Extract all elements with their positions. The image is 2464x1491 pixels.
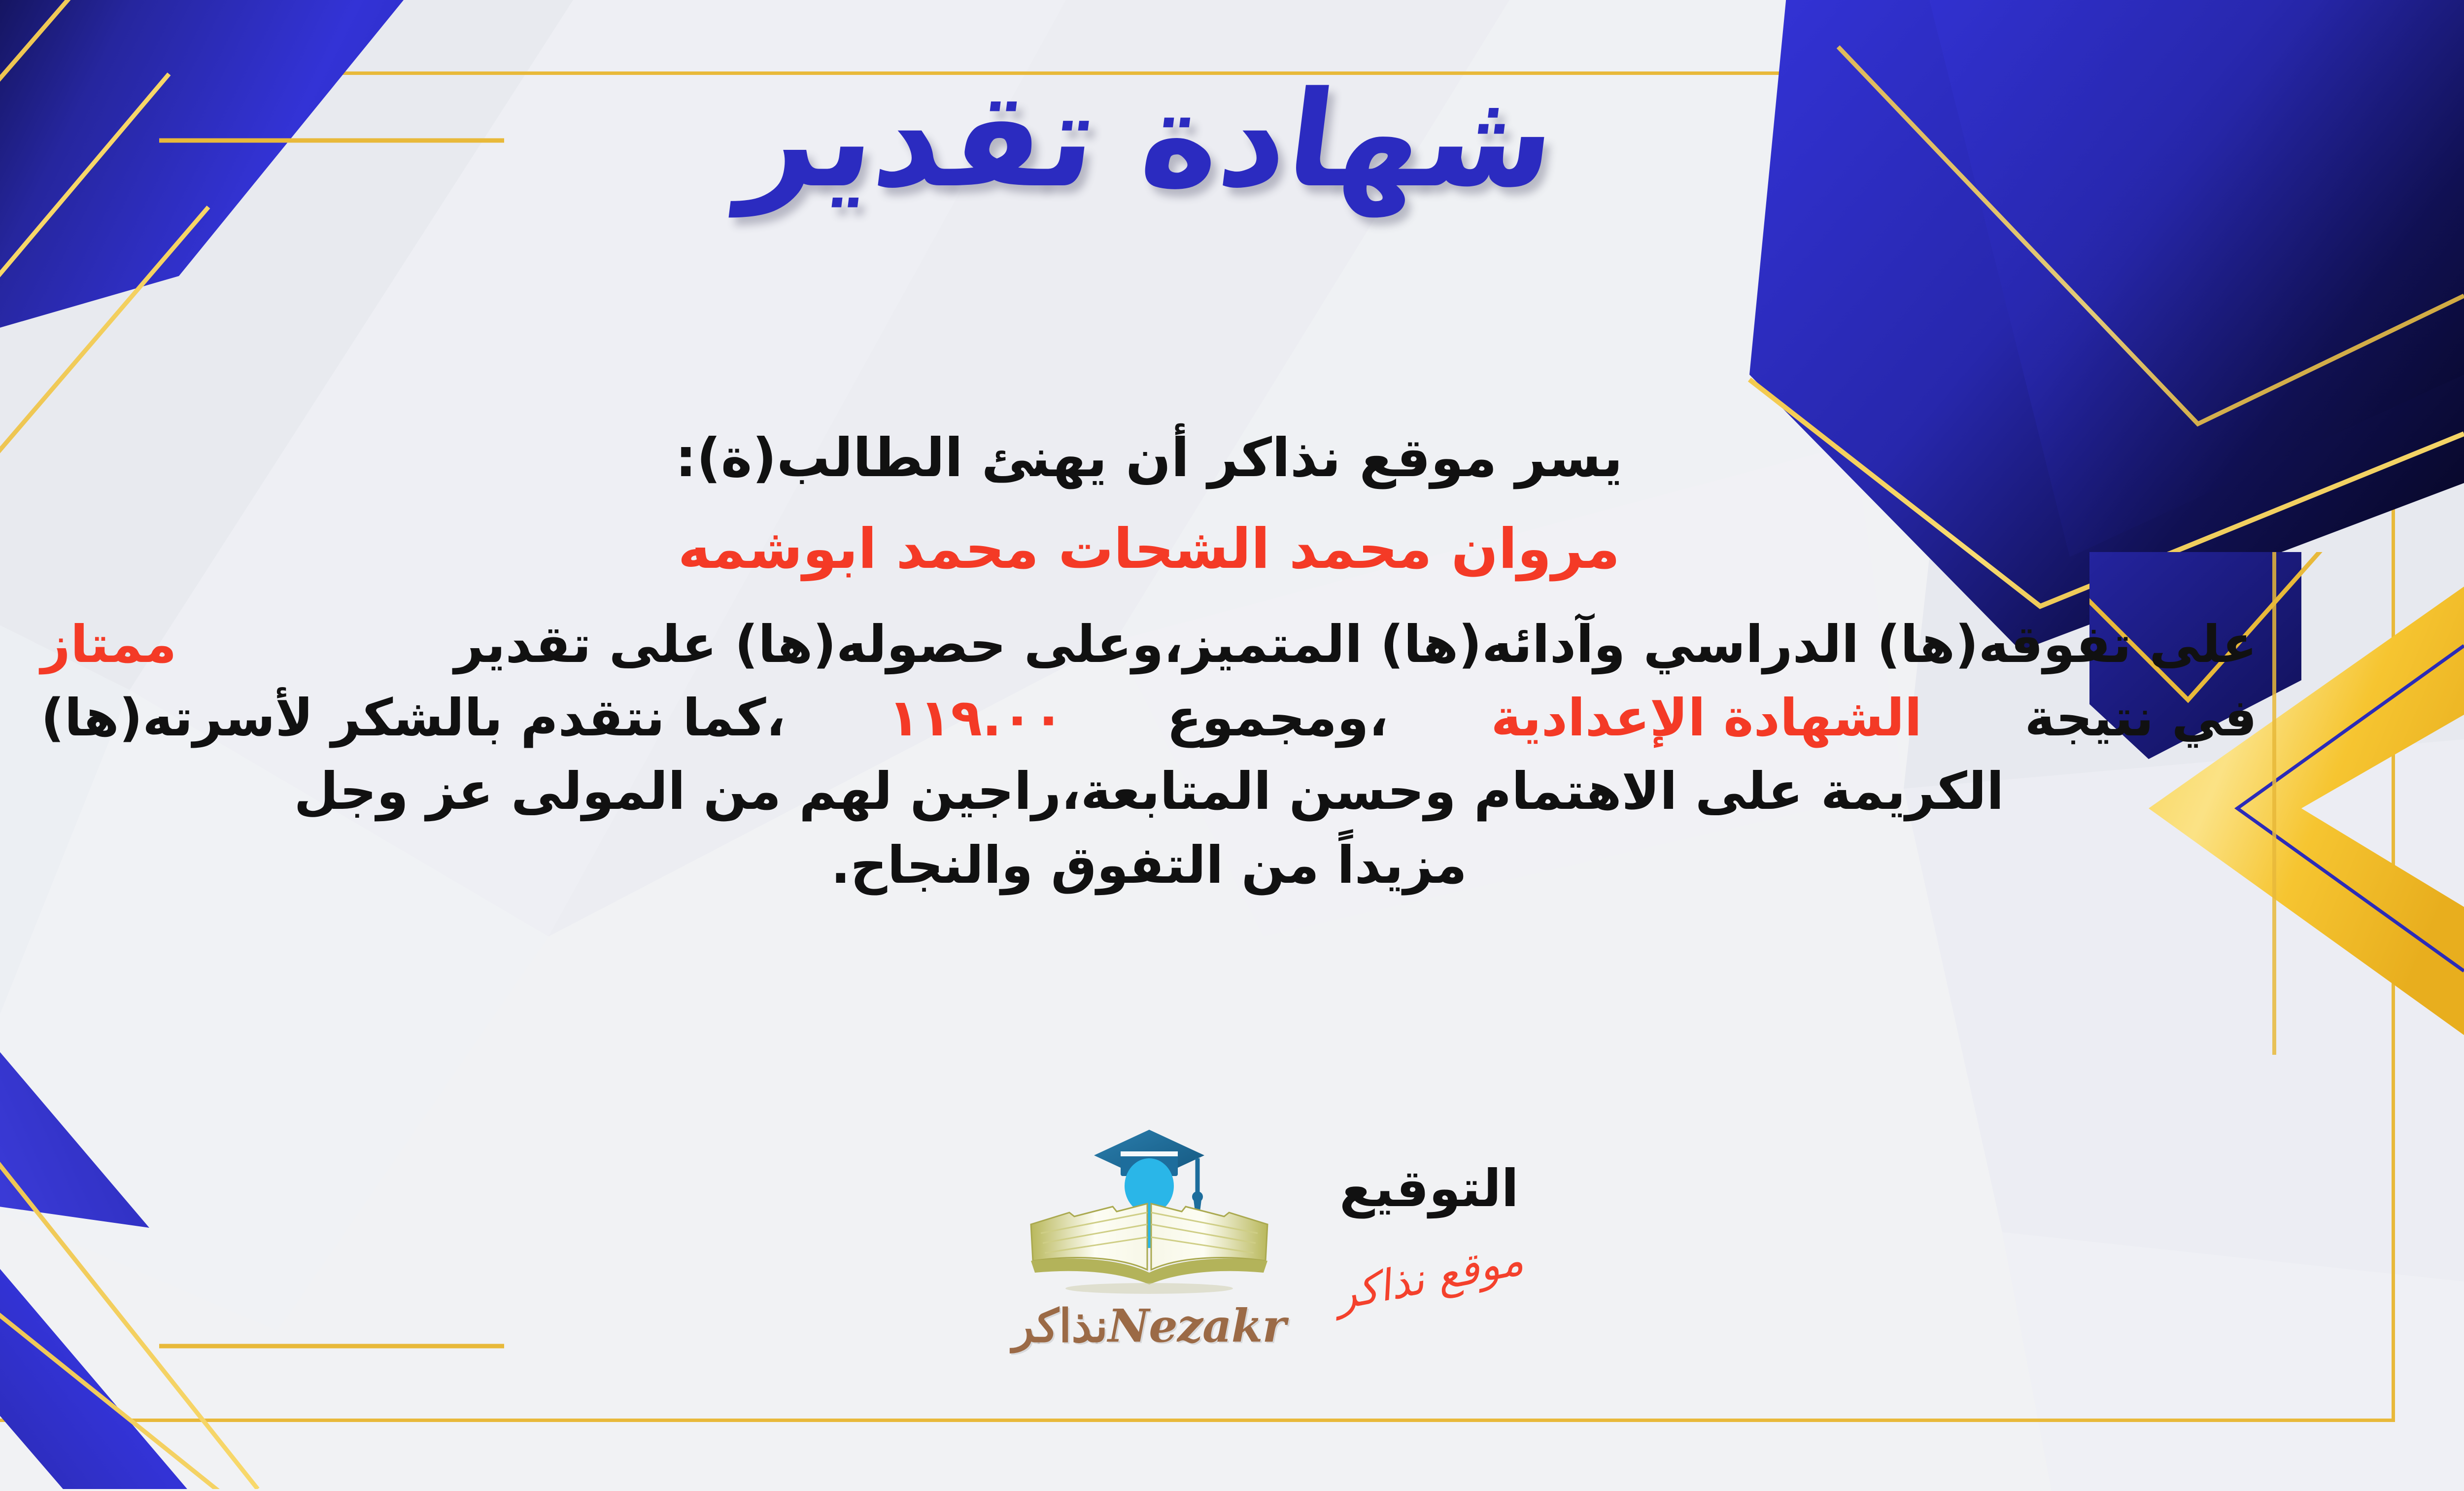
brand-logo: Nezakrنذاكر — [0, 1119, 2351, 1352]
logo-wordmark: Nezakrنذاكر — [1012, 1299, 1286, 1352]
achievement-text: على تفوقه(ها) الدراسي وآدائه(ها) المتميز… — [454, 611, 2257, 678]
logo-wordmark-ar: نذاكر — [1012, 1299, 1108, 1352]
certificate-body: يسر موقع نذاكر أن يهنئ الطالب(ة): مروان … — [41, 424, 2257, 905]
result-suffix: ،كما نتقدم بالشكر لأسرته(ها) — [41, 685, 786, 751]
result-middle: ،ومجموع — [1167, 685, 1388, 751]
result-prefix: في نتيجة — [2024, 685, 2257, 751]
logo-wordmark-en: Nezakr — [1108, 1299, 1286, 1352]
student-name: مروان محمد الشحات محمد ابوشمه — [41, 514, 2257, 586]
certificate-name: الشهادة الإعدادية — [1491, 685, 1922, 751]
total-score: ١١٩.٠٠ — [888, 685, 1064, 751]
grade-value: ممتاز — [41, 611, 177, 678]
graduate-book-icon — [1011, 1119, 1287, 1296]
achievement-line: على تفوقه(ها) الدراسي وآدائه(ها) المتميز… — [41, 611, 2257, 678]
result-line: في نتيجة الشهادة الإعدادية ،ومجموع ١١٩.٠… — [41, 685, 2257, 751]
page-title: شهادة تقدير — [735, 74, 1563, 206]
intro-line: يسر موقع نذاكر أن يهنئ الطالب(ة): — [41, 424, 2257, 493]
certificate-footer: التوقيع موقع نذاكر — [0, 1109, 2351, 1385]
certificate-page: شهادة تقدير يسر موقع نذاكر أن يهنئ الطال… — [0, 0, 2464, 1491]
thanks-line: الكريمة على الاهتمام وحسن المتابعة،راجين… — [41, 758, 2257, 825]
closing-line: مزيداً من التفوق والنجاح. — [41, 832, 2257, 899]
certificate-title-area: شهادة تقدير — [0, 74, 2464, 206]
